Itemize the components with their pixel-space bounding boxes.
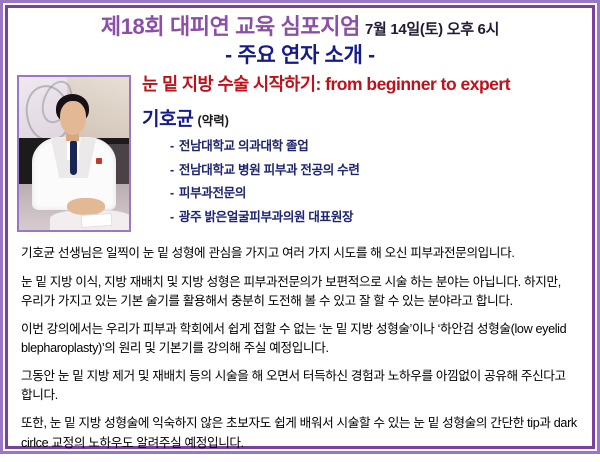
list-item: -광주 밝은얼굴피부과의원 대표원장 [170, 211, 583, 224]
bullet-dash-icon: - [170, 139, 174, 153]
photo-coat-badge [96, 158, 102, 164]
poster-header: 제18회 대피연 교육 심포지엄7월 14일(토) 오후 6시 - 주요 연자 … [17, 14, 583, 66]
photo-face [60, 101, 86, 135]
bio-item-label: 피부과전문의 [179, 186, 246, 200]
speaker-section: 눈 밑 지방 수술 시작하기: from beginner to expert … [17, 75, 583, 234]
description-body: 기호균 선생님은 일찍이 눈 밑 성형에 관심을 가지고 여러 가지 시도를 해… [17, 244, 583, 461]
bullet-dash-icon: - [170, 186, 174, 200]
bullet-dash-icon: - [170, 210, 174, 224]
description-paragraph: 기호균 선생님은 일찍이 눈 밑 성형에 관심을 가지고 여러 가지 시도를 해… [21, 244, 581, 263]
list-item: -전남대학교 병원 피부과 전공의 수련 [170, 164, 583, 177]
bio-item-label: 광주 밝은얼굴피부과의원 대표원장 [179, 210, 353, 224]
bio-item-label: 전남대학교 의과대학 졸업 [179, 139, 309, 153]
description-paragraph: 이번 강의에서는 우리가 피부과 학회에서 쉽게 접할 수 없는 ‘눈 밑 지방… [21, 320, 581, 358]
bullet-dash-icon: - [170, 163, 174, 177]
symposium-datetime: 7월 14일(토) 오후 6시 [365, 21, 499, 38]
poster-frame-outer: 제18회 대피연 교육 심포지엄7월 14일(토) 오후 6시 - 주요 연자 … [0, 0, 600, 454]
speaker-name-row: 기호균(약력) [142, 104, 583, 131]
photo-papers [80, 213, 111, 228]
symposium-title: 제18회 대피연 교육 심포지엄 [101, 14, 360, 39]
speaker-photo [17, 75, 131, 232]
description-paragraph: 눈 밑 지방 이식, 지방 재배치 및 지방 성형은 피부과전문의가 보편적으로… [21, 273, 581, 311]
lecture-title: 눈 밑 지방 수술 시작하기: from beginner to expert [142, 75, 583, 93]
photo-necktie [70, 141, 77, 175]
speaker-name: 기호균 [142, 109, 194, 130]
poster-frame-inner: 제18회 대피연 교육 심포지엄7월 14일(토) 오후 6시 - 주요 연자 … [5, 5, 595, 449]
speaker-bio-list: -전남대학교 의과대학 졸업 -전남대학교 병원 피부과 전공의 수련 -피부과… [142, 140, 583, 223]
description-paragraph: 그동안 눈 밑 지방 제거 및 재배치 등의 시술을 해 오면서 터득하신 경험… [21, 367, 581, 405]
title-line: 제18회 대피연 교육 심포지엄7월 14일(토) 오후 6시 [17, 16, 583, 38]
speaker-details: 눈 밑 지방 수술 시작하기: from beginner to expert … [131, 75, 583, 234]
list-item: -전남대학교 의과대학 졸업 [170, 140, 583, 153]
speaker-name-suffix: (약력) [198, 114, 229, 128]
bio-item-label: 전남대학교 병원 피부과 전공의 수련 [179, 163, 360, 177]
photo-hands [67, 198, 104, 215]
list-item: -피부과전문의 [170, 187, 583, 200]
description-paragraph: 또한, 눈 밑 지방 성형술에 익숙하지 않은 초보자도 쉽게 배워서 시술할 … [21, 414, 581, 452]
section-subtitle: - 주요 연자 소개 - [17, 45, 583, 66]
